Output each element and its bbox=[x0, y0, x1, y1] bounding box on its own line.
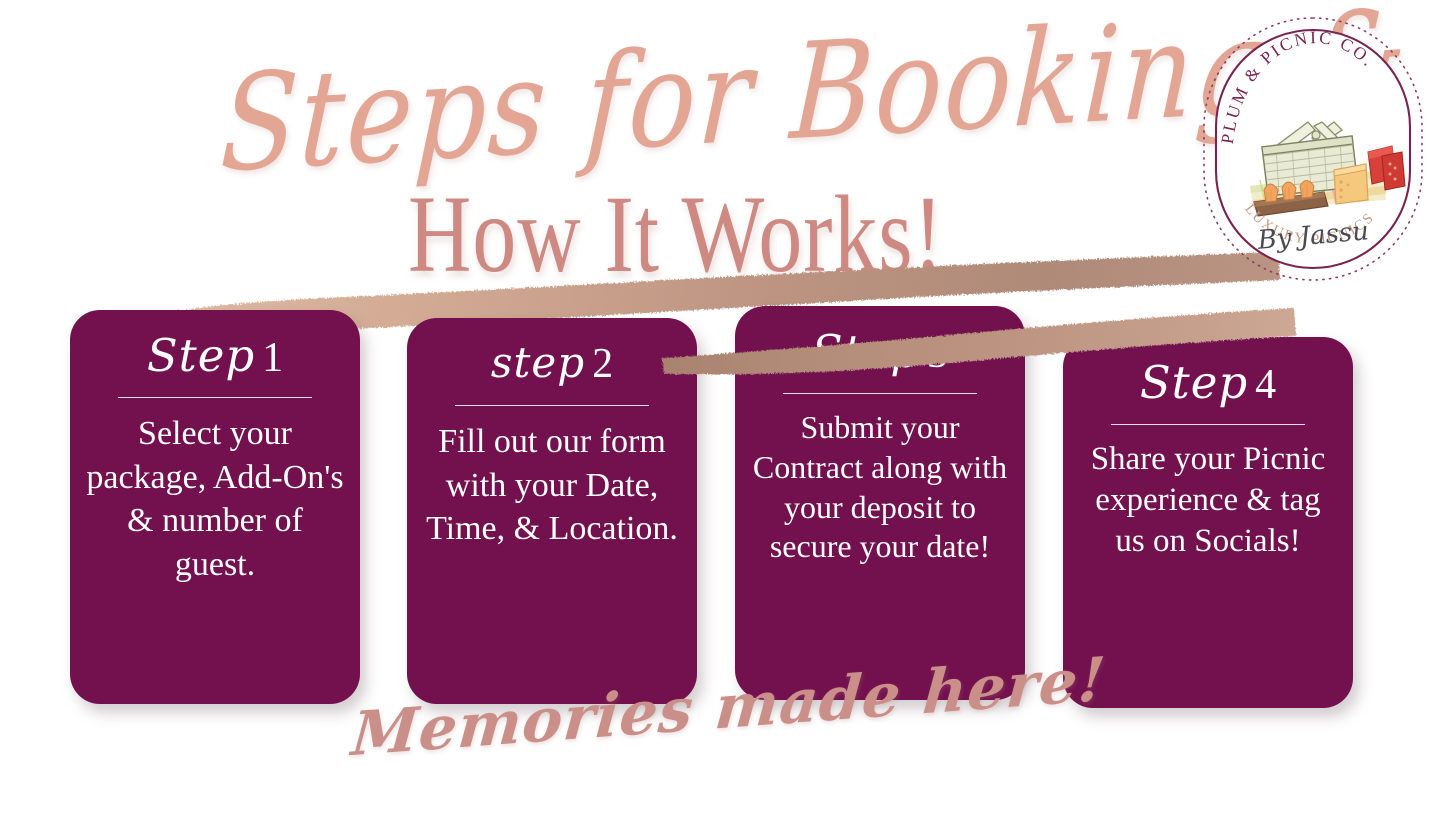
step-3-divider bbox=[783, 393, 977, 394]
step-1-title: Step1 bbox=[147, 332, 283, 381]
step-3-number: 3 bbox=[920, 331, 948, 377]
headline-serif-line: How It Works! bbox=[408, 170, 944, 298]
step-2-title: step2 bbox=[491, 340, 613, 387]
headline-script-line: Steps for Booking & bbox=[217, 0, 1183, 202]
step-1-title-word: Step bbox=[147, 329, 255, 382]
step-2-divider bbox=[455, 405, 649, 406]
step-card-2[interactable]: step2 Fill out our form with your Date, … bbox=[407, 318, 697, 704]
flyer-canvas: Steps for Booking & How It Works! bbox=[0, 0, 1437, 822]
step-1-divider bbox=[118, 397, 312, 398]
step-card-1[interactable]: Step1 Select your package, Add-On's & nu… bbox=[70, 310, 360, 704]
brand-logo[interactable]: PLUM & PICNIC CO. bbox=[1196, 4, 1434, 292]
step-card-3[interactable]: Step3 Submit your Contract along with yo… bbox=[735, 306, 1025, 700]
step-3-title-word: Step bbox=[812, 325, 920, 378]
step-4-title: Step4 bbox=[1140, 359, 1276, 408]
step-1-body: Select your package, Add-On's & number o… bbox=[84, 412, 346, 586]
step-1-number: 1 bbox=[255, 335, 283, 381]
page-title: Steps for Booking & How It Works! bbox=[0, 48, 1180, 268]
step-2-number: 2 bbox=[585, 341, 613, 387]
step-4-divider bbox=[1111, 424, 1305, 425]
step-3-body: Submit your Contract along with your dep… bbox=[749, 408, 1011, 567]
step-4-body: Share your Picnic experience & tag us on… bbox=[1077, 439, 1339, 562]
step-2-title-word: step bbox=[491, 338, 585, 387]
step-4-title-word: Step bbox=[1140, 356, 1248, 409]
step-4-number: 4 bbox=[1248, 362, 1276, 408]
step-2-body: Fill out our form with your Date, Time, … bbox=[421, 420, 683, 551]
step-3-title: Step3 bbox=[812, 328, 948, 377]
